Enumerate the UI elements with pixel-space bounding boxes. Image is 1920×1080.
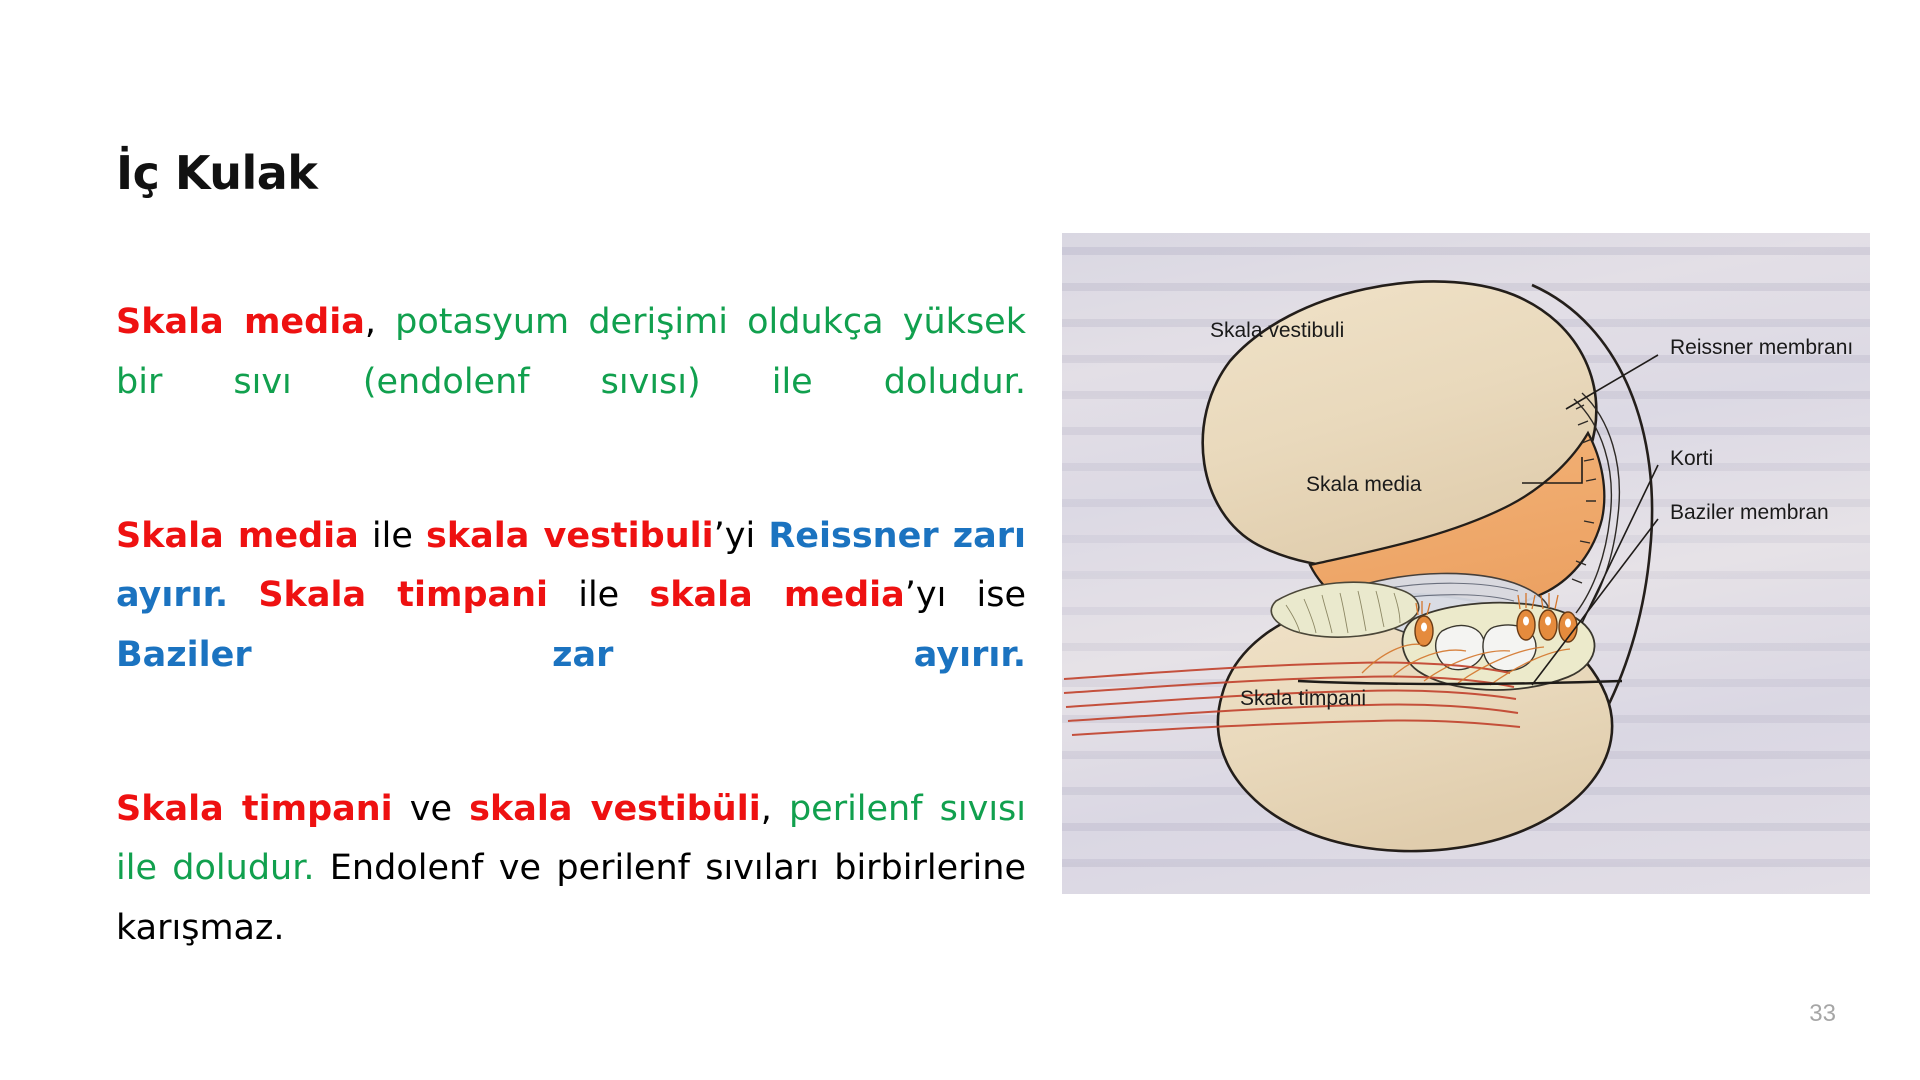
connector-ve: ve — [393, 789, 469, 829]
paragraph-3: Skala timpani ve skala vestibüli, perile… — [116, 780, 1026, 1018]
term-skala-vestibuli-2: skala vestibüli — [469, 789, 761, 829]
punctuation-comma-2: , — [761, 789, 789, 829]
figure-label-skala-media: Skala media — [1306, 473, 1422, 497]
term-skala-media: Skala media — [116, 302, 365, 342]
connector-ile-1: ile — [359, 516, 426, 556]
body-text-column: Skala media, potasyum derişimi oldukça y… — [116, 258, 1026, 1018]
paragraph-2: Skala media ile skala vestibuli’yi Reiss… — [116, 507, 1026, 745]
connector-ile-2: ile — [548, 575, 649, 615]
figure-label-baziler-membran: Baziler membran — [1670, 501, 1829, 525]
figure-label-reissner-membrani: Reissner membranı — [1670, 336, 1853, 360]
space-1 — [228, 575, 258, 615]
page-number: 33 — [1809, 1000, 1836, 1028]
term-skala-vestibuli: skala vestibuli — [426, 516, 714, 556]
term-skala-media-3: skala media — [649, 575, 904, 615]
figure-label-skala-vestibuli: Skala vestibuli — [1210, 319, 1344, 343]
punctuation-comma: , — [365, 302, 395, 342]
figure-label-korti: Korti — [1670, 447, 1713, 471]
term-skala-media-2: Skala media — [116, 516, 359, 556]
term-baziler-zar: Baziler zar ayırır. — [116, 635, 1026, 675]
suffix-yi: ’yi — [714, 516, 769, 556]
page-title: İç Kulak — [116, 146, 317, 200]
term-skala-timpani: Skala timpani — [258, 575, 548, 615]
figure-label-skala-timpani: Skala timpani — [1240, 687, 1366, 711]
suffix-yi-ise: ’yı ise — [905, 575, 1038, 615]
cochlea-diagram-svg — [1062, 233, 1870, 894]
paragraph-1: Skala media, potasyum derişimi oldukça y… — [116, 293, 1026, 472]
term-skala-timpani-2: Skala timpani — [116, 789, 393, 829]
cochlea-cross-section-figure: Skala vestibuli Skala media Skala timpan… — [1062, 233, 1870, 894]
